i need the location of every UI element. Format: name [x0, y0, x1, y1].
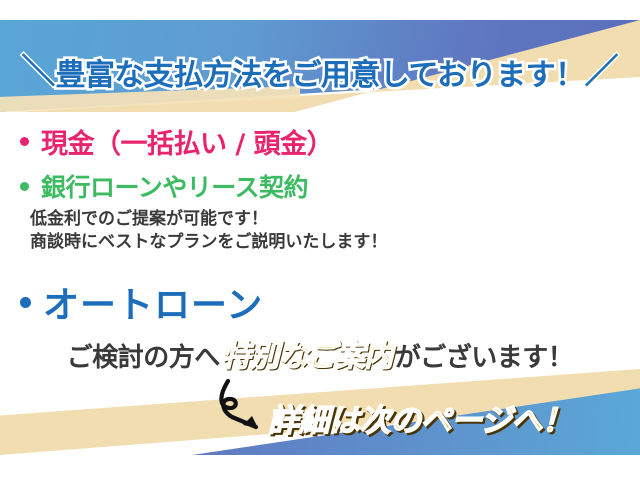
promo-poster: ＼豊富な支払方法をご用意しております！／ 現金（一括払い / 頭金） 銀行ローン…	[0, 0, 640, 480]
special-highlight-text: 特別なご案内	[220, 339, 395, 373]
slash-right-icon: ／	[585, 44, 619, 93]
special-offer-line: ご検討の方へ特別なご案内がございます！	[0, 333, 640, 375]
slash-left-icon: ＼	[21, 44, 55, 93]
note-line: 商談時にベストなプランをご説明いたします！	[30, 231, 387, 254]
bullet-dot-icon	[20, 297, 31, 308]
next-page-label: 詳細は次のページへ！	[268, 403, 572, 439]
next-page-cta: 詳細は次のページへ！	[268, 395, 572, 440]
list-item-label: 銀行ローンやリース契約	[41, 168, 308, 204]
list-item-auto-loan: オートローン	[20, 276, 263, 328]
header-title-row: ＼豊富な支払方法をご用意しております！／	[0, 46, 640, 95]
list-item-label: オートローン	[43, 276, 263, 328]
note-line: 低金利でのご提案が可能です！	[30, 208, 387, 231]
special-tail-text: がございます！	[395, 343, 574, 373]
page-title: 豊富な支払方法をご用意しております！	[55, 50, 584, 94]
note-block: 低金利でのご提案が可能です！ 商談時にベストなプランをご説明いたします！	[30, 208, 387, 254]
special-lead-text: ご検討の方へ	[67, 343, 220, 373]
list-item-label: 現金（一括払い / 頭金）	[41, 122, 333, 161]
list-item-cash: 現金（一括払い / 頭金）	[20, 122, 333, 161]
bullet-dot-icon	[20, 137, 29, 146]
list-item-bank-loan: 銀行ローンやリース契約	[20, 168, 308, 204]
bullet-dot-icon	[20, 182, 29, 191]
